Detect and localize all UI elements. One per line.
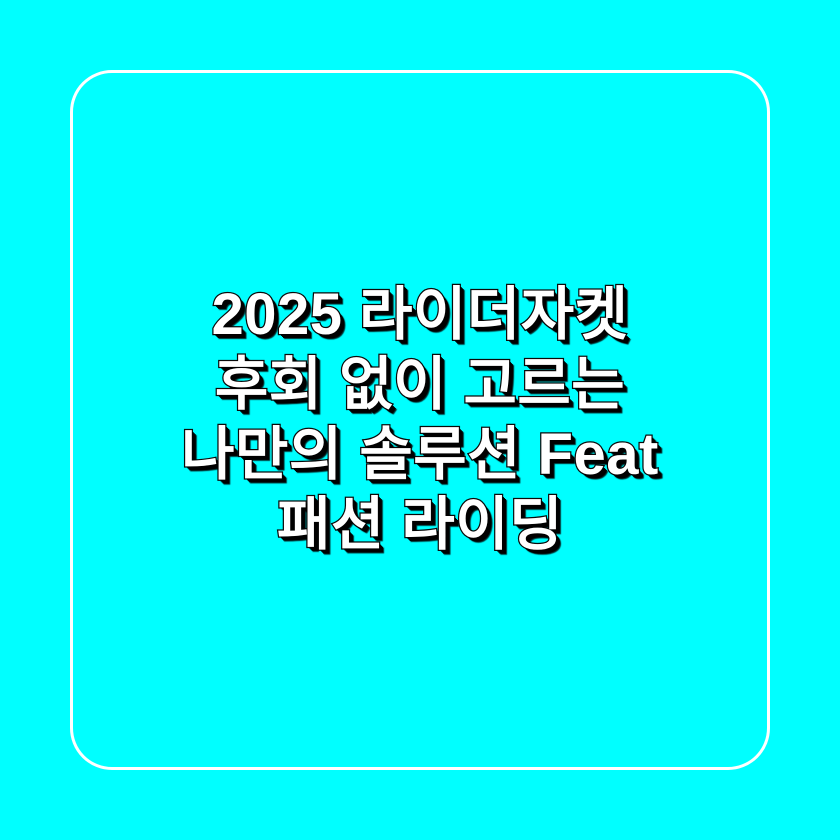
headline-line-3: 나만의 솔루션 Feat	[70, 420, 770, 490]
headline-block: 2025 라이더자켓 후회 없이 고르는 나만의 솔루션 Feat 패션 라이딩	[0, 0, 840, 840]
headline-line-4: 패션 라이딩	[70, 490, 770, 560]
poster-canvas: 2025 라이더자켓 후회 없이 고르는 나만의 솔루션 Feat 패션 라이딩	[0, 0, 840, 840]
headline-line-1: 2025 라이더자켓	[70, 280, 770, 350]
headline-line-2: 후회 없이 고르는	[70, 350, 770, 420]
